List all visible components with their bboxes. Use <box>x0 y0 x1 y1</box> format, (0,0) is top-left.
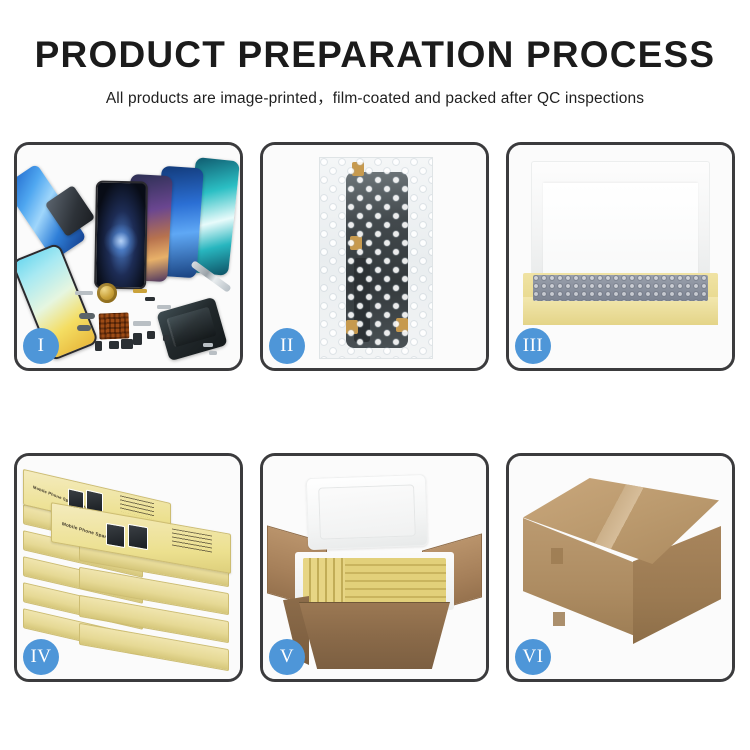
component-bit <box>95 341 102 351</box>
process-step-3: III <box>506 142 735 371</box>
process-step-4: Mobile Phone Spare Parts Mobile Phone Sp… <box>14 453 243 682</box>
component-bit <box>145 297 155 301</box>
foam-lid-image <box>306 474 428 550</box>
page-title: PRODUCT PREPARATION PROCESS <box>0 36 750 73</box>
tray-front-face <box>523 297 718 325</box>
step-badge-2: II <box>269 328 305 364</box>
carton-front-face <box>299 602 450 669</box>
process-step-1: I <box>14 142 243 371</box>
process-step-6: VI <box>506 453 735 682</box>
step-badge-1: I <box>23 328 59 364</box>
product-window <box>106 523 125 548</box>
dark-burst-screen-image <box>94 181 148 290</box>
process-step-2: II <box>260 142 489 371</box>
bubble-wrap-bag-image <box>319 157 433 359</box>
step-badge-5: V <box>269 639 305 675</box>
carton-seam <box>551 548 563 564</box>
component-bit <box>163 335 169 341</box>
header: PRODUCT PREPARATION PROCESS All products… <box>0 0 750 108</box>
component-bit <box>133 289 147 293</box>
product-window <box>128 524 148 551</box>
component-bit <box>79 313 95 319</box>
component-bit <box>121 339 133 349</box>
component-bit <box>75 291 93 295</box>
step-badge-6: VI <box>515 639 551 675</box>
page-subtitle: All products are image-printed，film-coat… <box>0 86 750 108</box>
component-bit <box>77 325 91 331</box>
bubble-texture <box>320 158 432 358</box>
component-bit <box>133 333 142 345</box>
packed-yellow-boxes-side <box>303 558 345 604</box>
component-bit <box>147 331 155 339</box>
component-bit <box>133 321 151 326</box>
process-panel-grid: I II III <box>14 142 736 682</box>
component-bit <box>209 351 217 355</box>
copper-grid-chip-image <box>99 312 130 339</box>
process-step-5: V <box>260 453 489 682</box>
component-bit <box>203 343 213 347</box>
component-bit <box>157 305 171 309</box>
gold-coil-image <box>97 283 117 303</box>
box-spec-lines <box>172 528 212 553</box>
step-badge-4: IV <box>23 639 59 675</box>
bubble-wrap-layer-image <box>533 275 708 301</box>
component-bit <box>109 341 119 349</box>
carton-seam <box>553 612 565 626</box>
step-badge-3: III <box>515 328 551 364</box>
